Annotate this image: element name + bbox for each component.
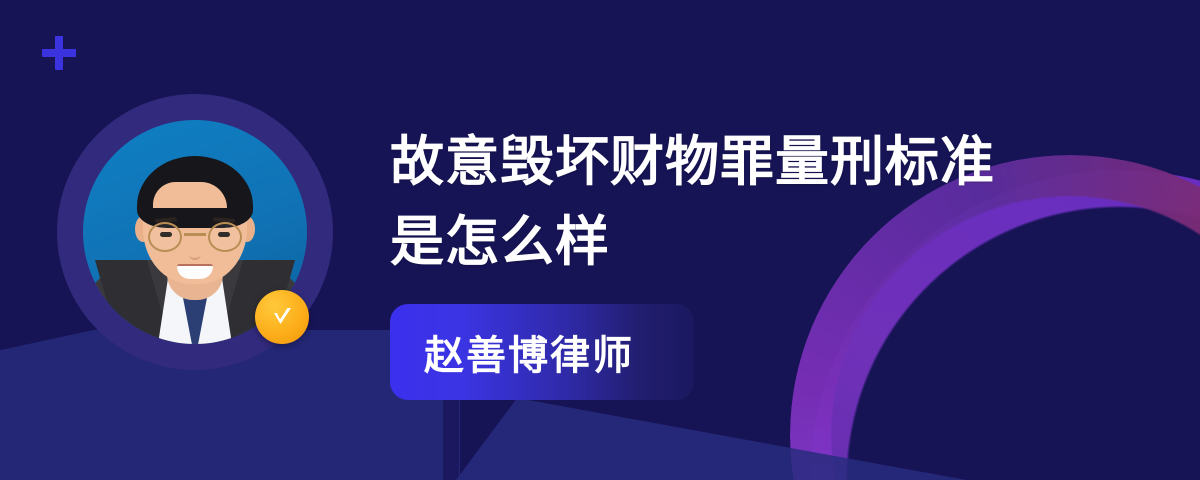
glasses-bridge — [184, 233, 206, 236]
page-title: 故意毁坏财物罪量刑标准 是怎么样 — [390, 122, 1090, 282]
lawyer-qa-banner: 故意毁坏财物罪量刑标准 是怎么样 赵善博律师 — [0, 0, 1200, 480]
verified-badge-icon — [255, 290, 309, 344]
plus-icon — [42, 36, 76, 70]
avatar[interactable] — [57, 94, 333, 370]
glasses-lens-left — [148, 222, 182, 252]
portrait-nose — [189, 248, 201, 260]
content-block: 故意毁坏财物罪量刑标准 是怎么样 赵善博律师 — [390, 122, 1090, 400]
lawyer-name-button[interactable]: 赵善博律师 — [390, 304, 694, 400]
glasses-lens-right — [208, 222, 242, 252]
portrait-hair — [137, 156, 253, 228]
